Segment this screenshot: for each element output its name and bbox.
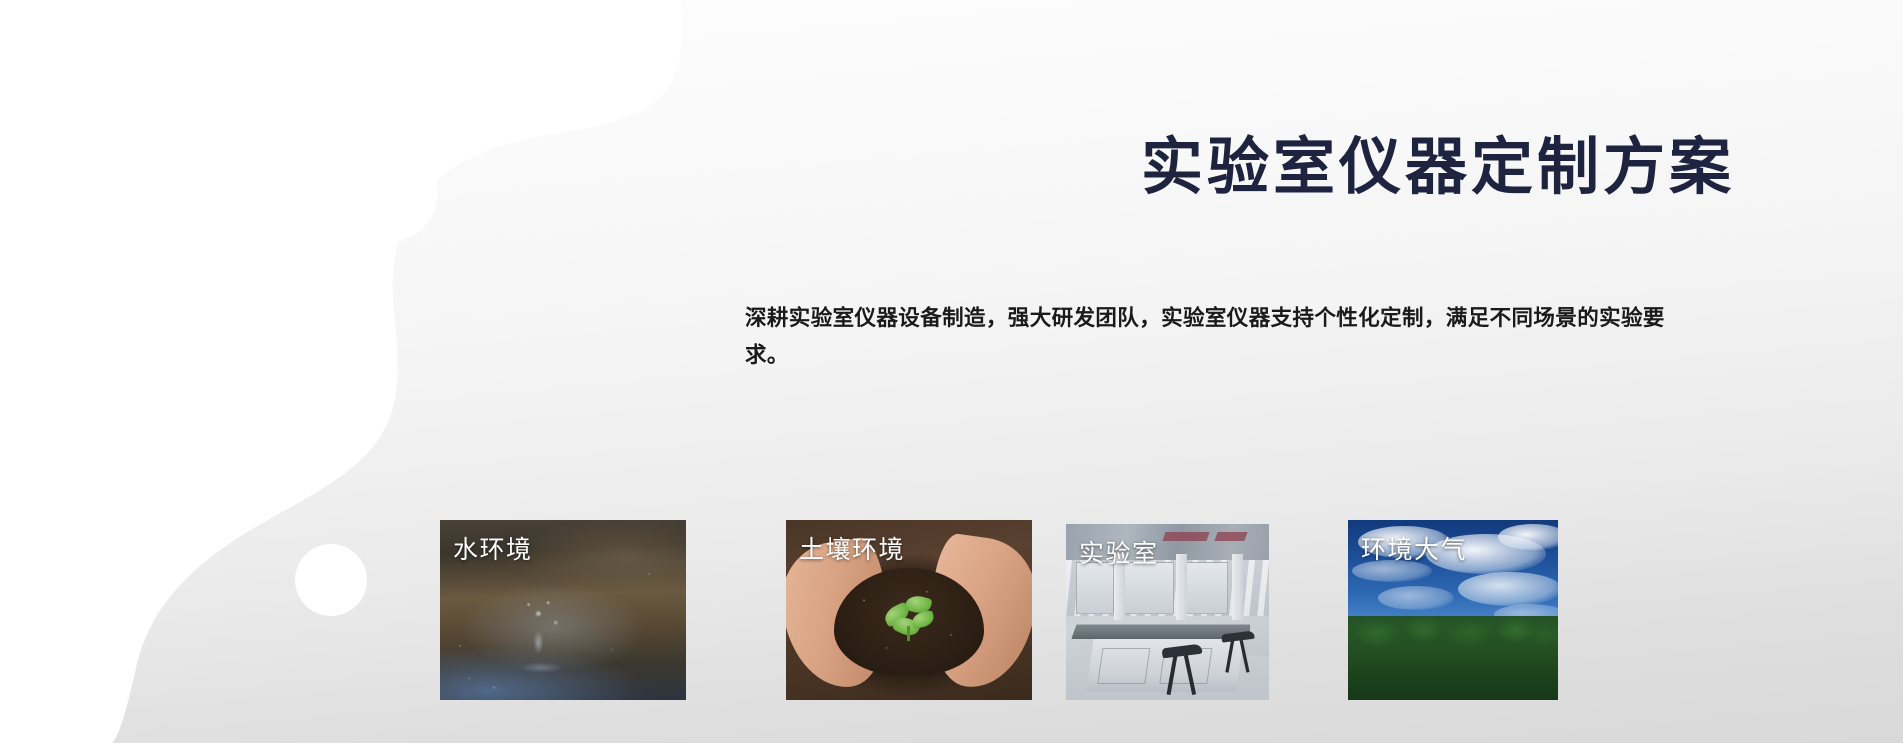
category-card-label: 环境大气 [1361,530,1467,566]
lab-stool-icon [1162,646,1202,696]
category-card-label: 实验室 [1079,534,1159,570]
category-card-list: 水环境 土壤环境 [440,520,1730,700]
category-card-laboratory[interactable]: 实验室 [1066,524,1269,700]
laboratory-instrument-banner: 实验室仪器定制方案 深耕实验室仪器设备制造，强大研发团队，实验室仪器支持个性化定… [0,0,1903,743]
category-card-soil[interactable]: 土壤环境 [786,520,1032,700]
sprout-icon [882,590,940,642]
category-card-label: 水环境 [453,530,533,566]
page-title: 实验室仪器定制方案 [0,135,1735,200]
category-card-label: 土壤环境 [799,530,905,566]
lab-stool-icon [1222,633,1255,674]
forest-shape [1348,616,1558,700]
category-card-atmosphere[interactable]: 环境大气 [1348,520,1558,700]
page-subtitle: 深耕实验室仪器设备制造，强大研发团队，实验室仪器支持个性化定制，满足不同场景的实… [745,300,1665,374]
category-card-water[interactable]: 水环境 [440,520,686,700]
decor-circle-small [295,544,367,616]
